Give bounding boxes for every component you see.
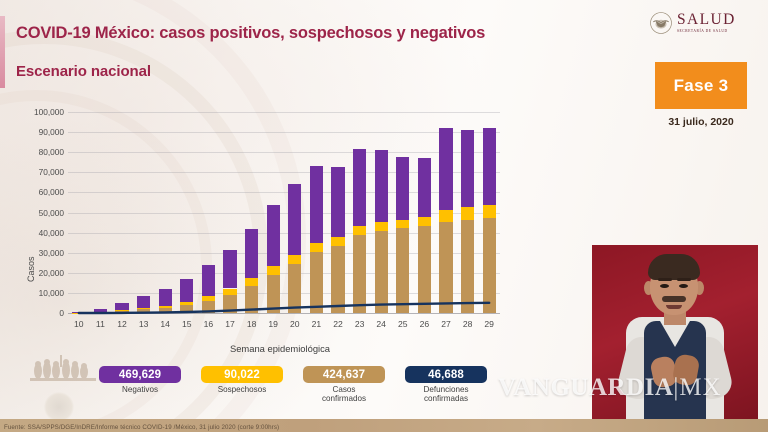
- bar-segment: [137, 296, 150, 308]
- bar-segment: [310, 252, 323, 313]
- y-axis-tick-label: 10,000: [0, 289, 64, 297]
- historic-figures-watermark: [30, 355, 96, 381]
- chart-bar: [310, 112, 323, 313]
- y-axis-tick-label: 60,000: [0, 188, 64, 196]
- bar-segment: [202, 301, 215, 313]
- legend-item: 46,688Defuncionesconfirmadas: [402, 366, 490, 403]
- x-axis-tick-label: 17: [220, 319, 240, 329]
- slide-title: COVID-19 México: casos positivos, sospec…: [16, 24, 616, 43]
- x-axis-tick-label: 20: [285, 319, 305, 329]
- bar-segment: [137, 308, 150, 309]
- bar-segment: [396, 157, 409, 219]
- bar-segment: [396, 220, 409, 228]
- chart-bar: [331, 112, 344, 313]
- legend-value-badge: 46,688: [405, 366, 487, 383]
- x-axis-tick-label: 12: [112, 319, 132, 329]
- x-axis-tick-label: 19: [263, 319, 283, 329]
- interpreter-mouth: [666, 305, 682, 309]
- bar-segment: [180, 305, 193, 313]
- bar-segment: [202, 296, 215, 301]
- bar-segment: [159, 306, 172, 308]
- x-axis-tick-label: 14: [155, 319, 175, 329]
- bar-segment: [461, 130, 474, 207]
- chart-bar: [375, 112, 388, 313]
- legend-label: Sospechosos: [218, 385, 267, 394]
- legend-value-badge: 469,629: [99, 366, 181, 383]
- bar-segment: [331, 237, 344, 245]
- bar-segment: [418, 158, 431, 217]
- chart-bar: [288, 112, 301, 313]
- y-axis-tick-label: 80,000: [0, 148, 64, 156]
- bar-segment: [159, 308, 172, 313]
- x-axis-tick-label: 18: [242, 319, 262, 329]
- bar-segment: [137, 309, 150, 313]
- interpreter-eye-right: [679, 284, 688, 288]
- y-axis-tick-label: 0: [0, 309, 64, 317]
- bar-segment: [202, 265, 215, 296]
- x-axis-tick-label: 21: [306, 319, 326, 329]
- bar-segment: [267, 205, 280, 266]
- presentation-slide: COVID-19 México: casos positivos, sospec…: [0, 0, 768, 432]
- bar-segment: [223, 250, 236, 289]
- chart-bar: [180, 112, 193, 313]
- bar-segment: [180, 279, 193, 302]
- vanguardia-watermark: VANGUARDIA|MX: [498, 374, 722, 402]
- x-axis-tick-label: 11: [90, 319, 110, 329]
- salud-logo-text: SALUD: [677, 12, 736, 28]
- bar-segment: [288, 255, 301, 264]
- x-axis-baseline: [68, 313, 500, 314]
- bar-segment: [223, 289, 236, 295]
- x-axis-tick-label: 24: [371, 319, 391, 329]
- chart-bar: [115, 112, 128, 313]
- bar-segment: [331, 167, 344, 237]
- x-axis-tick-label: 29: [479, 319, 499, 329]
- bar-segment: [461, 220, 474, 313]
- legend-value-badge: 90,022: [201, 366, 283, 383]
- legend-item: 424,637Casosconfirmados: [300, 366, 388, 403]
- bar-segment: [223, 295, 236, 313]
- chart-bar: [94, 112, 107, 313]
- bar-segment: [461, 207, 474, 219]
- eagle-seal-icon: [650, 12, 672, 34]
- gridline: [68, 112, 500, 113]
- chart-bar: [439, 112, 452, 313]
- x-axis-tick-label: 22: [328, 319, 348, 329]
- x-axis-tick-label: 25: [393, 319, 413, 329]
- chart-bar: [353, 112, 366, 313]
- bar-segment: [94, 309, 107, 312]
- bar-segment: [353, 226, 366, 234]
- y-axis-tick-label: 30,000: [0, 249, 64, 257]
- bar-segment: [115, 303, 128, 310]
- bar-segment: [159, 289, 172, 306]
- gridline: [68, 152, 500, 153]
- salud-logo-subtext: SECRETARÍA DE SALUD: [677, 30, 736, 34]
- gridline: [68, 213, 500, 214]
- bar-segment: [483, 128, 496, 205]
- gridline: [68, 273, 500, 274]
- bar-segment: [94, 312, 107, 313]
- chart-bar: [72, 112, 85, 313]
- bar-segment: [439, 128, 452, 209]
- salud-logo: SALUD SECRETARÍA DE SALUD: [650, 12, 736, 34]
- report-date: 31 julio, 2020: [655, 116, 747, 128]
- bar-segment: [439, 222, 452, 313]
- legend-label: Negativos: [122, 385, 158, 394]
- bar-segment: [115, 310, 128, 311]
- bar-segment: [418, 226, 431, 313]
- interpreter-eye-left: [660, 284, 669, 288]
- x-axis-tick-label: 26: [414, 319, 434, 329]
- interpreter-hair: [648, 254, 700, 280]
- chart-legend: 469,629Negativos90,022Sospechosos424,637…: [96, 366, 490, 403]
- bar-segment: [331, 246, 344, 313]
- interpreter-brow-left: [658, 278, 672, 281]
- bar-segment: [267, 275, 280, 313]
- bar-segment: [375, 222, 388, 230]
- bar-segment: [245, 229, 258, 279]
- gridline: [68, 132, 500, 133]
- bar-segment: [72, 312, 85, 313]
- gridline: [68, 293, 500, 294]
- bar-segment: [245, 286, 258, 313]
- bar-segment: [115, 311, 128, 313]
- chart-bar: [483, 112, 496, 313]
- chart-bar: [202, 112, 215, 313]
- chart-bar: [223, 112, 236, 313]
- bar-segment: [310, 243, 323, 252]
- chart-bar: [461, 112, 474, 313]
- bar-segment: [288, 184, 301, 255]
- bar-segment: [310, 166, 323, 243]
- x-axis-tick-label: 10: [69, 319, 89, 329]
- y-axis-tick-label: 90,000: [0, 128, 64, 136]
- bar-segment: [245, 278, 258, 286]
- bar-segment: [418, 217, 431, 225]
- y-axis-tick-label: 50,000: [0, 209, 64, 217]
- legend-item: 90,022Sospechosos: [198, 366, 286, 403]
- x-axis-tick-label: 16: [198, 319, 218, 329]
- chart-bar: [267, 112, 280, 313]
- gridline: [68, 253, 500, 254]
- source-note: Fuente: SSA/SPPS/DGE/InDRE/Informe técni…: [4, 424, 279, 431]
- bar-segment: [288, 264, 301, 313]
- chart-bar: [137, 112, 150, 313]
- left-accent-bar: [0, 16, 5, 88]
- y-axis-tick-label: 70,000: [0, 168, 64, 176]
- gridline: [68, 192, 500, 193]
- bar-segment: [439, 210, 452, 222]
- x-axis-title: Semana epidemiológica: [70, 343, 490, 354]
- chart-bar: [396, 112, 409, 313]
- x-axis-tick-label: 15: [177, 319, 197, 329]
- legend-label: Defuncionesconfirmadas: [424, 385, 469, 403]
- bar-segment: [267, 266, 280, 274]
- legend-item: 469,629Negativos: [96, 366, 184, 403]
- bar-segment: [375, 231, 388, 313]
- bar-segment: [353, 149, 366, 226]
- y-axis-tick-label: 100,000: [0, 108, 64, 116]
- gridline: [68, 172, 500, 173]
- x-axis-tick-label: 28: [458, 319, 478, 329]
- chart-bar: [418, 112, 431, 313]
- gridline: [68, 233, 500, 234]
- y-axis-tick-label: 20,000: [0, 269, 64, 277]
- bar-segment: [483, 218, 496, 313]
- phase-badge: Fase 3: [655, 62, 747, 109]
- bar-segment: [180, 302, 193, 305]
- legend-label: Casosconfirmados: [322, 385, 366, 403]
- stacked-bar-chart: Casos 010,00020,00030,00040,00050,00060,…: [0, 100, 520, 365]
- legend-value-badge: 424,637: [303, 366, 385, 383]
- bar-segment: [483, 205, 496, 218]
- chart-bar: [159, 112, 172, 313]
- bar-segment: [396, 228, 409, 313]
- bar-segment: [375, 150, 388, 223]
- x-axis-tick-label: 23: [350, 319, 370, 329]
- slide-subtitle: Escenario nacional: [16, 63, 151, 80]
- interpreter-brow-right: [677, 278, 691, 281]
- x-axis-tick-label: 13: [134, 319, 154, 329]
- x-axis-tick-label: 27: [436, 319, 456, 329]
- y-axis-tick-label: 40,000: [0, 229, 64, 237]
- seal-watermark: [44, 392, 74, 422]
- chart-bar: [245, 112, 258, 313]
- bar-segment: [353, 235, 366, 313]
- interpreter-moustache: [662, 296, 686, 302]
